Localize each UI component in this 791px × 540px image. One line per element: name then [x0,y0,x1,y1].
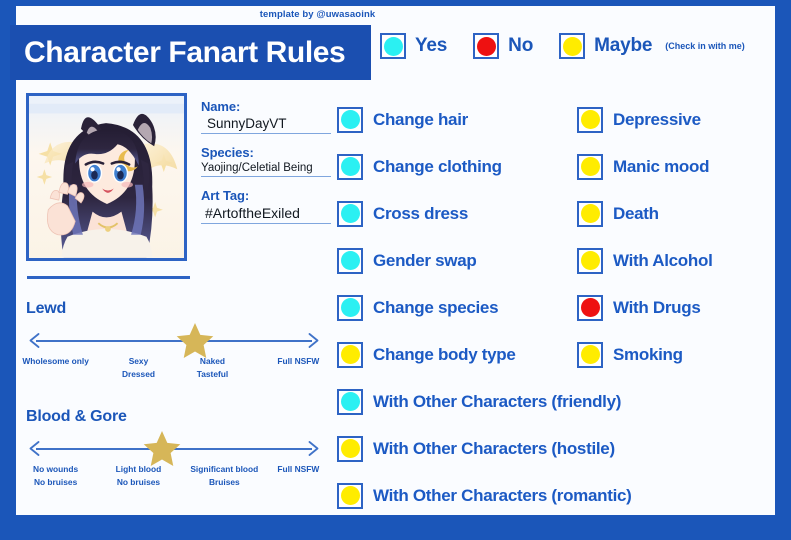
rule-row[interactable]: With Drugs [577,284,777,331]
yes-dot-icon [384,37,403,56]
rule-row[interactable]: Manic mood [577,143,777,190]
axis-tick-labels: Wholesome onlySexyDressedNakedTastefulFu… [26,355,322,389]
rule-row[interactable]: Smoking [577,331,777,378]
rule-swatch-yes[interactable] [337,389,363,415]
rules-checklist: Change hairDepressiveChange clothingMani… [337,96,777,519]
rule-row-wide[interactable]: With Other Characters (romantic) [337,472,777,519]
rule-row[interactable]: Gender swap [337,237,577,284]
slider-lewd: LewdWholesome onlySexyDressedNakedTastef… [26,300,322,389]
rule-label: With Other Characters (hostile) [373,439,615,459]
legend-label-no: No [508,35,533,57]
legend-label-maybe: Maybe [594,35,652,57]
yes-dot-icon [341,298,360,317]
axis-tick: NakedTasteful [197,355,229,381]
rule-label: Change body type [373,345,516,365]
rule-label: With Drugs [613,298,701,318]
slider-title: Lewd [26,300,322,318]
axis-tick-line: Full NSFW [277,355,319,368]
axis-tick-line: Tasteful [197,368,229,381]
legend-item-yes: Yes [380,33,447,59]
legend-label-yes: Yes [415,35,447,57]
rule-swatch-maybe[interactable] [337,342,363,368]
legend-item-no: No [473,33,533,59]
rule-row[interactable]: Depressive [577,96,777,143]
rule-label: Change hair [373,110,468,130]
no-dot-icon [581,298,600,317]
maybe-dot-icon [341,439,360,458]
rule-row[interactable]: Change hair [337,96,577,143]
yes-dot-icon [341,110,360,129]
slider-title: Blood & Gore [26,408,322,426]
rule-row[interactable]: Cross dress [337,190,577,237]
axis-tick-line: Bruises [190,476,258,489]
profile-panel: Name: SunnyDayVT Species: Yaojing/Celeti… [26,93,331,261]
axis-tick-line: Significant blood [190,463,258,476]
yes-dot-icon [341,392,360,411]
rule-swatch-maybe[interactable] [337,436,363,462]
field-art-tag-value[interactable]: #ArtoftheExiled [201,205,331,224]
arrow-left-icon [29,441,40,456]
rules-grid: Change hairDepressiveChange clothingMani… [337,96,777,378]
axis-line [36,340,312,342]
arrow-right-icon [308,333,319,348]
rule-label: Cross dress [373,204,468,224]
title-banner: Character Fanart Rules [10,25,371,80]
rule-label: Smoking [613,345,683,365]
field-art-tag-label: Art Tag: [201,188,331,203]
arrow-right-icon [308,441,319,456]
axis-tick-line: Wholesome only [22,355,89,368]
rule-swatch-yes[interactable] [337,107,363,133]
rule-label: Change species [373,298,498,318]
slider-star-marker-icon[interactable] [143,430,181,466]
legend-note-maybe: (Check in with me) [665,41,745,51]
rule-row-wide[interactable]: With Other Characters (friendly) [337,378,777,425]
field-species-label: Species: [201,145,331,160]
rule-row[interactable]: Death [577,190,777,237]
axis-tick: Full NSFW [277,463,319,476]
template-credit: template by @uwasaoink [250,7,385,23]
rule-label: With Alcohol [613,251,713,271]
maybe-dot-icon [563,37,582,56]
rule-label: With Other Characters (friendly) [373,392,621,412]
rule-label: Gender swap [373,251,476,271]
page-title: Character Fanart Rules [10,36,345,70]
legend-swatch-maybe[interactable] [559,33,585,59]
axis-tick-line: Naked [197,355,229,368]
axis-tick-line: Sexy [122,355,155,368]
character-portrait [26,93,187,261]
rule-swatch-yes[interactable] [337,201,363,227]
maybe-dot-icon [581,251,600,270]
legend-item-maybe: Maybe(Check in with me) [559,33,745,59]
legend-swatch-yes[interactable] [380,33,406,59]
fanart-rules-sheet: template by @uwasaoink Character Fanart … [0,0,791,540]
axis-tick: SexyDressed [122,355,155,381]
rule-row-wide[interactable]: With Other Characters (hostile) [337,425,777,472]
axis-tick-line: No wounds [33,463,78,476]
maybe-dot-icon [581,345,600,364]
axis-tick: No woundsNo bruises [33,463,78,489]
maybe-dot-icon [581,157,600,176]
maybe-dot-icon [341,486,360,505]
slider-blood-and-gore: Blood & GoreNo woundsNo bruisesLight blo… [26,408,322,497]
maybe-dot-icon [581,110,600,129]
slider-axis [26,436,322,462]
field-species: Species: Yaojing/Celetial Being [201,145,331,177]
profile-fields: Name: SunnyDayVT Species: Yaojing/Celeti… [201,93,331,261]
legend: YesNoMaybe(Check in with me) [380,33,745,59]
slider-axis [26,328,322,354]
rule-swatch-no[interactable] [577,295,603,321]
legend-swatch-no[interactable] [473,33,499,59]
no-dot-icon [477,37,496,56]
rule-swatch-maybe[interactable] [577,107,603,133]
axis-tick: Light bloodNo bruises [116,463,162,489]
axis-tick-line: No bruises [116,476,162,489]
axis-tick-line: No bruises [33,476,78,489]
axis-tick-line: Full NSFW [277,463,319,476]
maybe-dot-icon [341,345,360,364]
rule-swatch-maybe[interactable] [337,483,363,509]
section-divider [27,276,190,279]
yes-dot-icon [341,251,360,270]
rule-row[interactable]: Change clothing [337,143,577,190]
arrow-left-icon [29,333,40,348]
rule-swatch-maybe[interactable] [577,342,603,368]
field-species-value[interactable]: Yaojing/Celetial Being [201,162,331,177]
rule-row[interactable]: Change species [337,284,577,331]
rule-swatch-maybe[interactable] [577,154,603,180]
axis-tick-line: Light blood [116,463,162,476]
axis-tick: Full NSFW [277,355,319,368]
rule-label: Change clothing [373,157,502,177]
rule-row[interactable]: Change body type [337,331,577,378]
rule-row[interactable]: With Alcohol [577,237,777,284]
maybe-dot-icon [581,204,600,223]
rule-label: With Other Characters (romantic) [373,486,632,506]
axis-tick: Wholesome only [22,355,89,368]
field-art-tag: Art Tag: #ArtoftheExiled [201,188,331,224]
rule-swatch-maybe[interactable] [577,201,603,227]
rule-swatch-maybe[interactable] [577,248,603,274]
yes-dot-icon [341,157,360,176]
rule-label: Manic mood [613,157,709,177]
slider-star-marker-icon[interactable] [176,322,214,358]
rule-swatch-yes[interactable] [337,154,363,180]
axis-tick: Significant bloodBruises [190,463,258,489]
rule-label: Death [613,204,659,224]
field-name-label: Name: [201,99,331,114]
axis-tick-labels: No woundsNo bruisesLight bloodNo bruises… [26,463,322,497]
rule-swatch-yes[interactable] [337,295,363,321]
axis-tick-line: Dressed [122,368,155,381]
rule-swatch-yes[interactable] [337,248,363,274]
field-name: Name: SunnyDayVT [201,99,331,134]
yes-dot-icon [341,204,360,223]
field-name-value[interactable]: SunnyDayVT [201,116,331,134]
rule-label: Depressive [613,110,701,130]
rules-wide-rows: With Other Characters (friendly)With Oth… [337,378,777,519]
